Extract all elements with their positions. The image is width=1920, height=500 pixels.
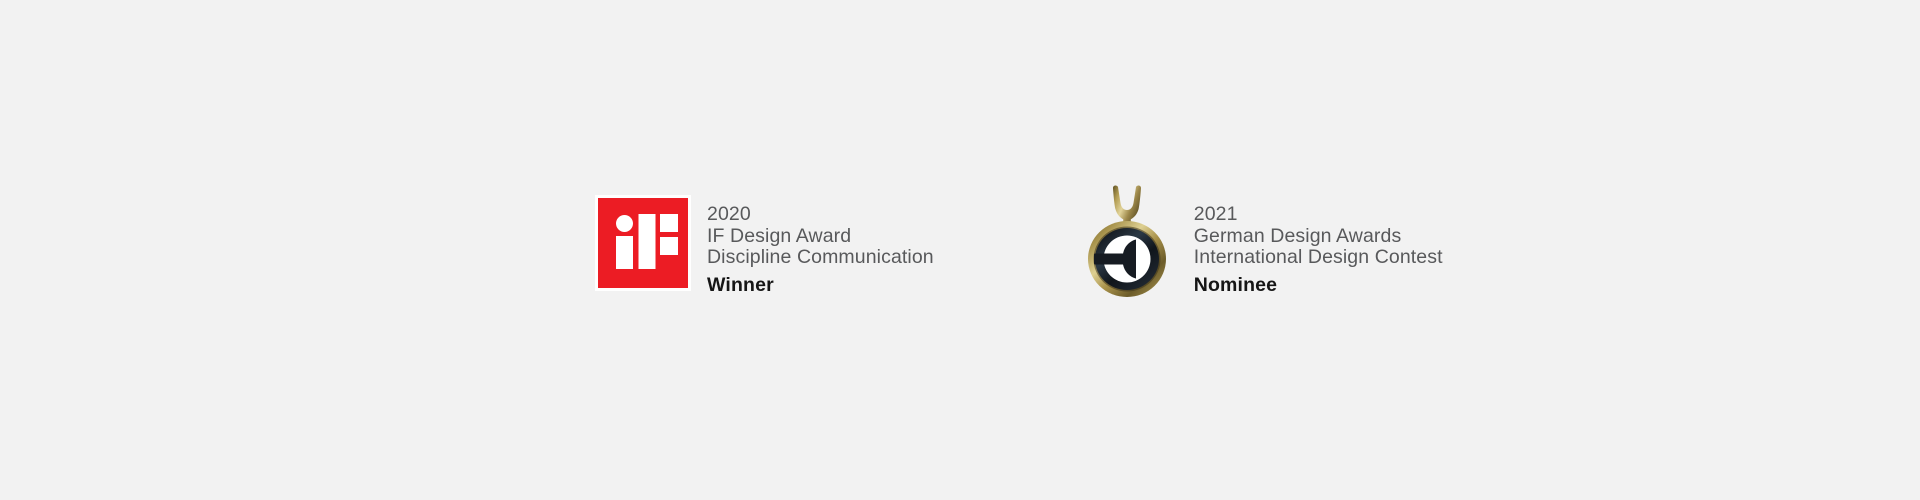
award-title: IF Design Award [707,226,934,248]
award-item-german-design-award: 2021 German Design Awards International … [1082,195,1443,298]
awards-banner: 2020 IF Design Award Discipline Communic… [0,0,1920,500]
award-title: German Design Awards [1194,226,1443,248]
german-design-award-medal [1086,182,1168,298]
if-design-award-logo [595,195,691,291]
award-result: Winner [707,275,934,297]
award-result: Nominee [1194,275,1443,297]
award-category: Discipline Communication [707,247,934,269]
award-text-german-design-award: 2021 German Design Awards International … [1194,195,1443,296]
award-item-if-design-award: 2020 IF Design Award Discipline Communic… [595,195,934,296]
award-year: 2021 [1194,204,1443,226]
award-text-if-design-award: 2020 IF Design Award Discipline Communic… [707,195,934,296]
awards-list: 2020 IF Design Award Discipline Communic… [595,195,1443,298]
award-category: International Design Contest [1194,247,1443,269]
award-year: 2020 [707,204,934,226]
